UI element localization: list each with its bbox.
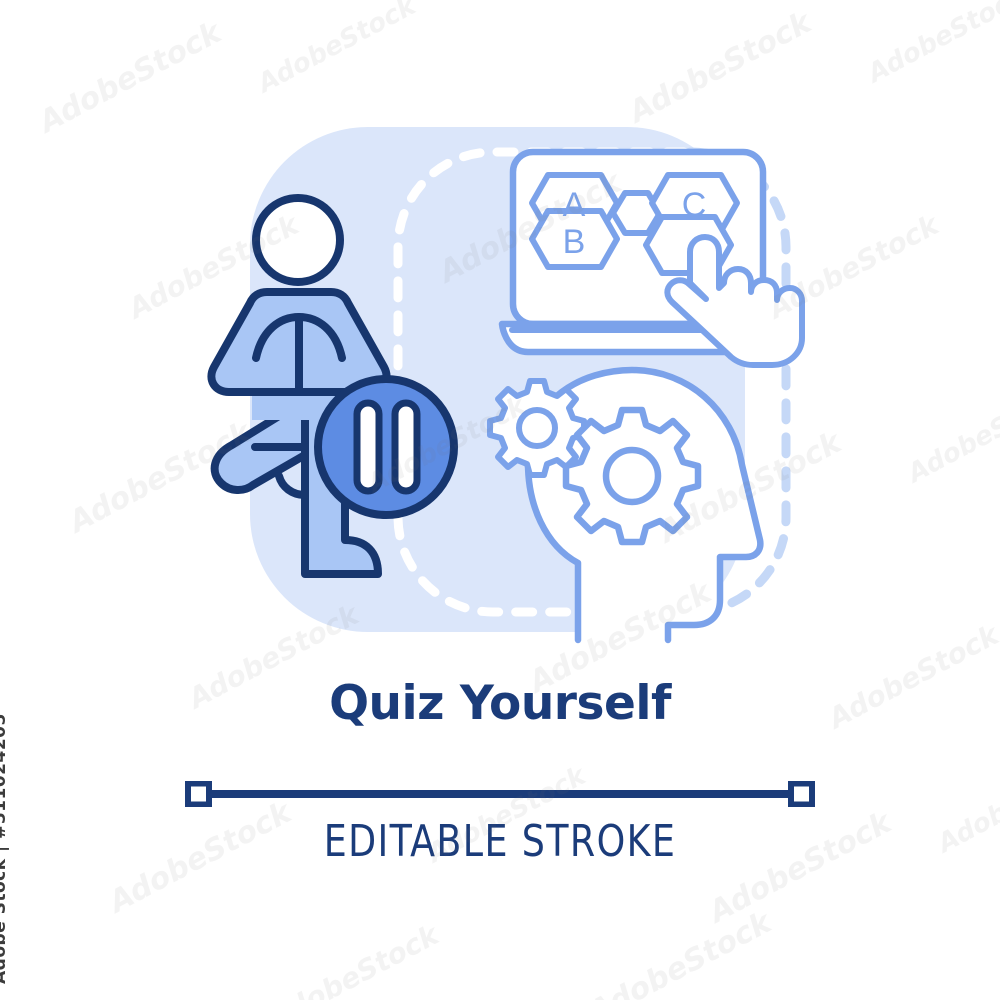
stock-credit-label: Adobe Stock | #511024205 [0, 713, 10, 984]
person-head [256, 198, 340, 282]
watermark-text: AdobeStock [263, 918, 444, 1000]
watermark-text: AdobeStock [584, 905, 777, 1000]
pause-bar-right [395, 403, 417, 491]
divider-handle-left[interactable] [188, 784, 209, 805]
page-title: Quiz Yourself [0, 676, 1000, 731]
large-gear-icon [566, 410, 698, 542]
pause-button-circle[interactable] [318, 379, 454, 515]
hexagon-label-c: C [682, 186, 707, 224]
pause-button[interactable] [318, 379, 454, 515]
divider-handle-right[interactable] [791, 784, 812, 805]
laptop-quiz-screen: A B C [502, 152, 802, 365]
pause-bar-left [357, 403, 379, 491]
small-gear-icon [490, 381, 584, 475]
hexagon-label-a: A [563, 186, 586, 224]
subtitle-editable-stroke: EDITABLE STROKE [40, 816, 960, 867]
illustration-canvas: A B C [0, 0, 1000, 1000]
quiz-yourself-illustration: A B C [0, 0, 1000, 670]
editable-stroke-divider [185, 781, 815, 807]
hexagon-label-b: B [563, 223, 586, 261]
